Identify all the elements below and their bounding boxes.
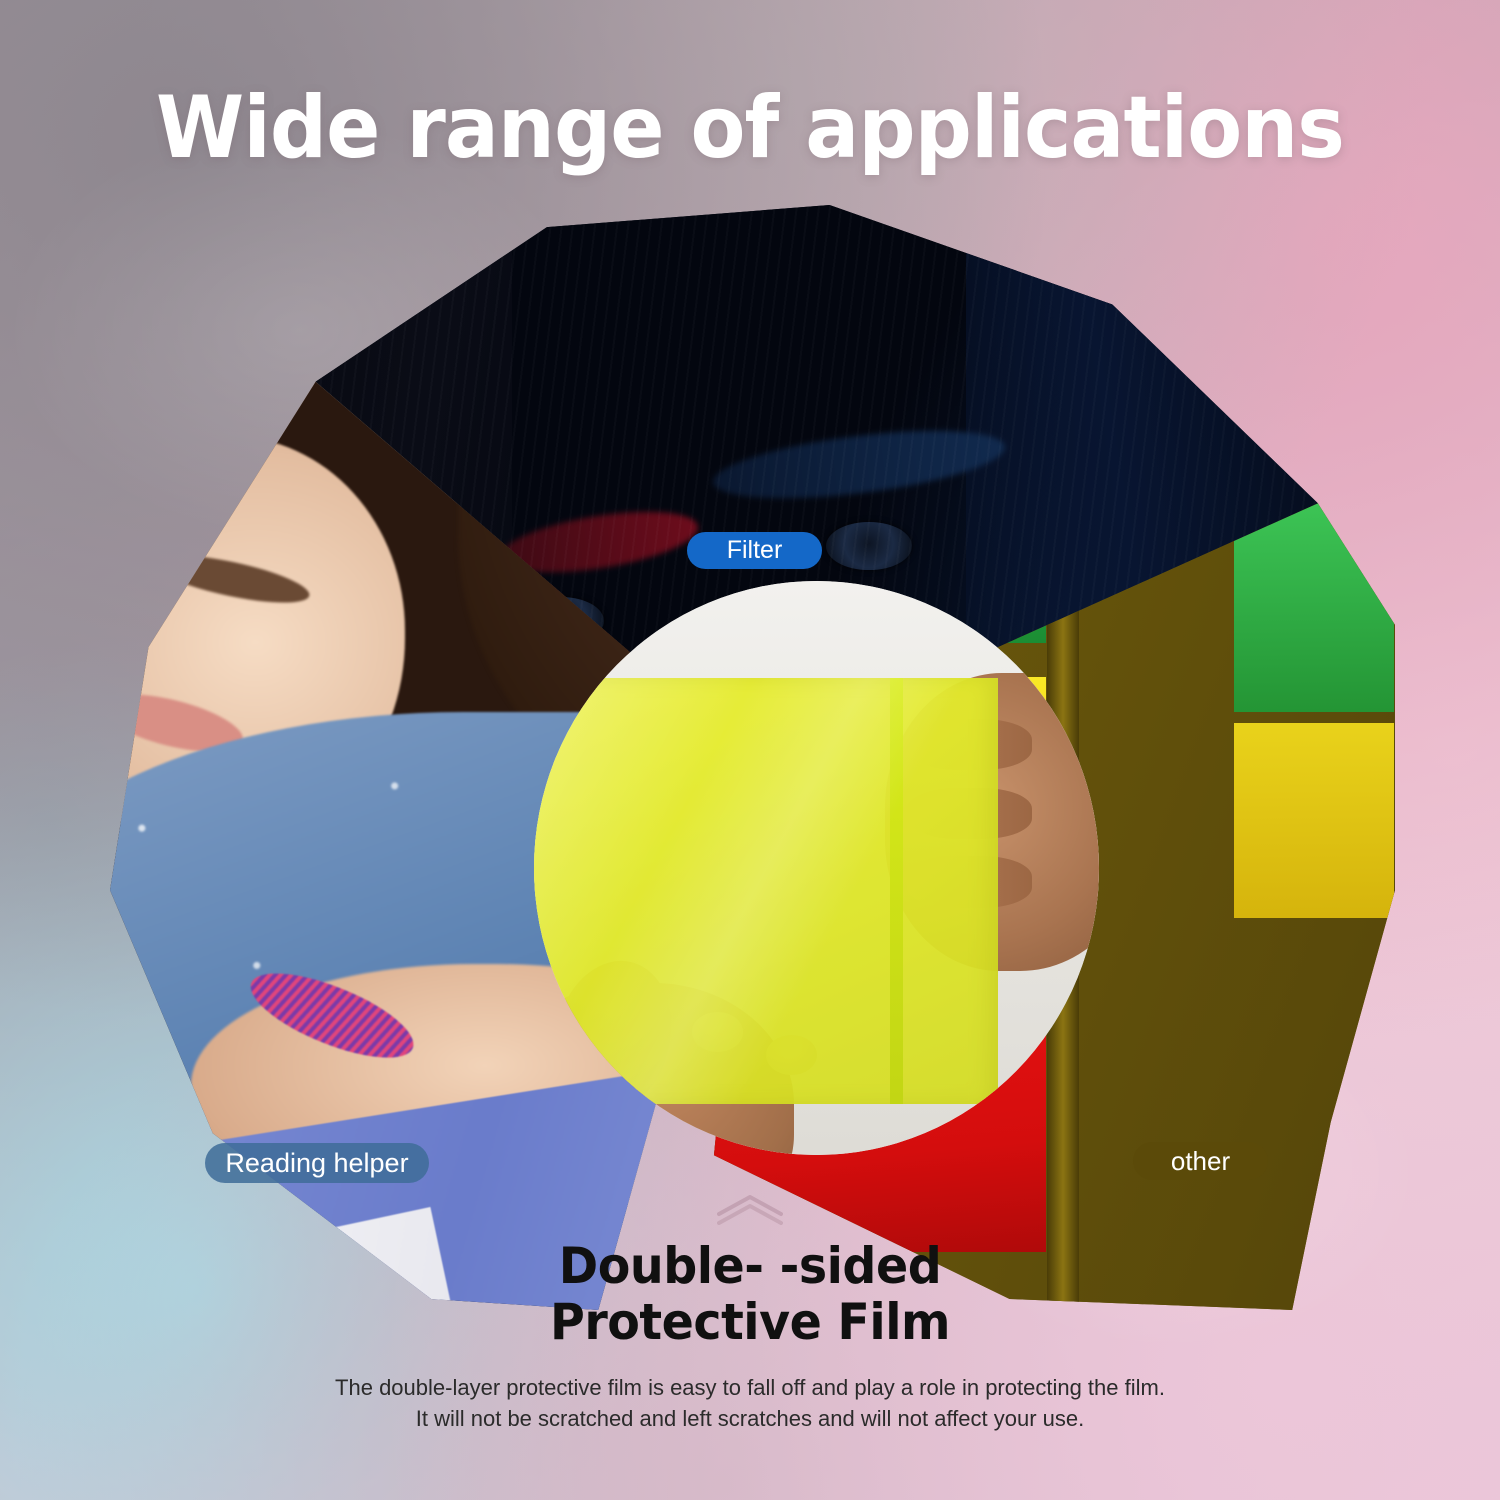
caption-line-1: The double-layer protective film is easy… bbox=[0, 1372, 1500, 1403]
page-title: Wide range of applications bbox=[53, 78, 1448, 178]
badge-reading-helper[interactable]: Reading helper bbox=[205, 1143, 429, 1183]
product-caption: The double-layer protective film is easy… bbox=[0, 1372, 1500, 1434]
badge-filter[interactable]: Filter bbox=[687, 532, 822, 569]
product-heading: Double- -sided Protective Film bbox=[38, 1238, 1463, 1350]
center-product-photo[interactable] bbox=[534, 581, 1099, 1156]
badge-other[interactable]: other bbox=[1133, 1142, 1268, 1180]
caption-line-2: It will not be scratched and left scratc… bbox=[0, 1403, 1500, 1434]
heading-line-2: Protective Film bbox=[550, 1293, 950, 1351]
heading-line-1: Double- -sided bbox=[559, 1237, 941, 1295]
product-infographic: Wide range of applications bbox=[0, 0, 1500, 1500]
